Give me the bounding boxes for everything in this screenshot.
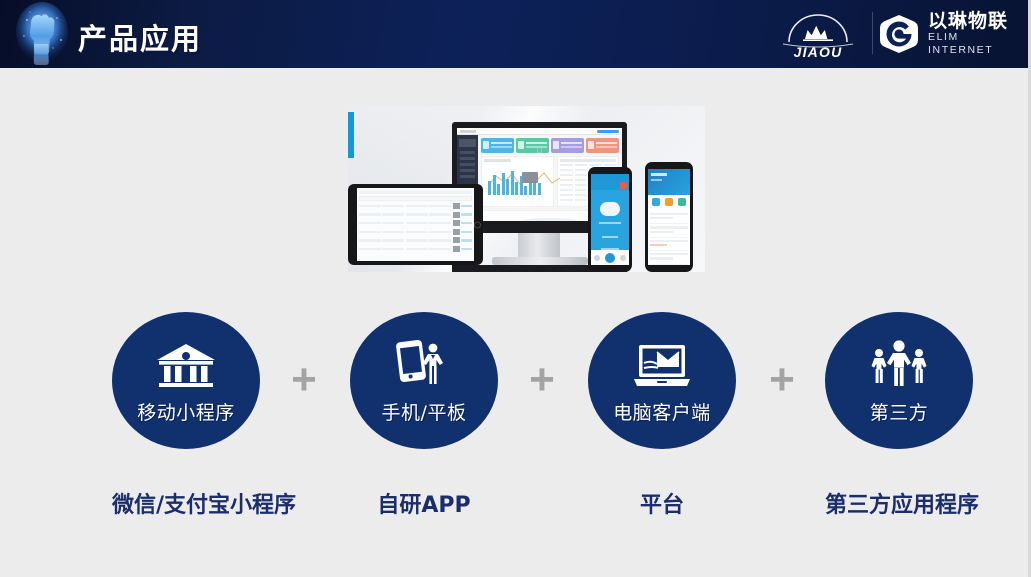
caption-mini-program: 微信/支付宝小程序 (112, 487, 260, 519)
logo-elim-en: ELIM INTERNET (928, 31, 1019, 57)
node-third-party[interactable]: 第三方 (825, 312, 973, 449)
slide-header: 产品应用 JIAOU 以琳物联 ELIM INTERNET (0, 0, 1031, 68)
node-label: 电脑客户端 (613, 398, 711, 425)
laptop-envelope-icon (630, 337, 694, 391)
imac-stand-neck (518, 233, 560, 259)
node-label: 第三方 (870, 398, 929, 425)
caption-third-party-app: 第三方应用程序 (825, 487, 973, 519)
logo-divider (872, 12, 873, 54)
caption-platform: 平台 (588, 487, 736, 519)
dashboard-chart (481, 156, 554, 207)
tablet-home-button (474, 221, 481, 228)
group-people-icon (866, 337, 932, 391)
node-mini-program[interactable]: 移动小程序 (112, 312, 260, 449)
node-mobile-tablet[interactable]: 手机/平板 (350, 312, 498, 449)
logo-jiaou-text: JIAOU (777, 44, 859, 60)
smartphone-person-icon (394, 337, 454, 391)
page-title: 产品应用 (78, 16, 202, 58)
bank-building-icon (155, 337, 217, 391)
phone-device-left (588, 167, 632, 272)
phone-device-right (645, 162, 693, 272)
multi-device-mockup:  (348, 106, 705, 272)
slide-root: 产品应用 JIAOU 以琳物联 ELIM INTERNET (0, 0, 1031, 577)
logo-elim: 以琳物联 ELIM INTERNET (879, 11, 1019, 57)
node-label: 手机/平板 (382, 398, 467, 425)
dashboard-stat-cards (481, 138, 619, 153)
sunrise-crown-icon (777, 8, 859, 48)
plus-separator-1: + (289, 366, 319, 396)
plus-separator-2: + (527, 366, 557, 396)
mockup-accent-bar (348, 112, 354, 158)
dashboard-topbar (457, 128, 622, 135)
tablet-device (348, 184, 483, 265)
caption-self-app: 自研APP (350, 487, 498, 519)
phone-app-list-screen (648, 169, 690, 265)
channel-nodes-row: 移动小程序 手机/平板 (0, 312, 1031, 452)
hexagon-g-icon (879, 14, 919, 54)
plus-separator-3: + (767, 366, 797, 396)
node-label: 移动小程序 (137, 398, 235, 425)
phone-app-blue-screen (591, 174, 629, 265)
channel-captions-row: 微信/支付宝小程序 自研APP 平台 第三方应用程序 (0, 487, 1031, 527)
raised-fist-icon (12, 0, 72, 68)
imac-stand-foot (492, 257, 588, 265)
logo-jiaou: JIAOU (777, 8, 859, 60)
tablet-table-screen (357, 188, 474, 261)
apple-logo-icon:  (537, 147, 543, 154)
logo-elim-cn: 以琳物联 (928, 11, 1019, 32)
node-desktop-client[interactable]: 电脑客户端 (588, 312, 736, 449)
